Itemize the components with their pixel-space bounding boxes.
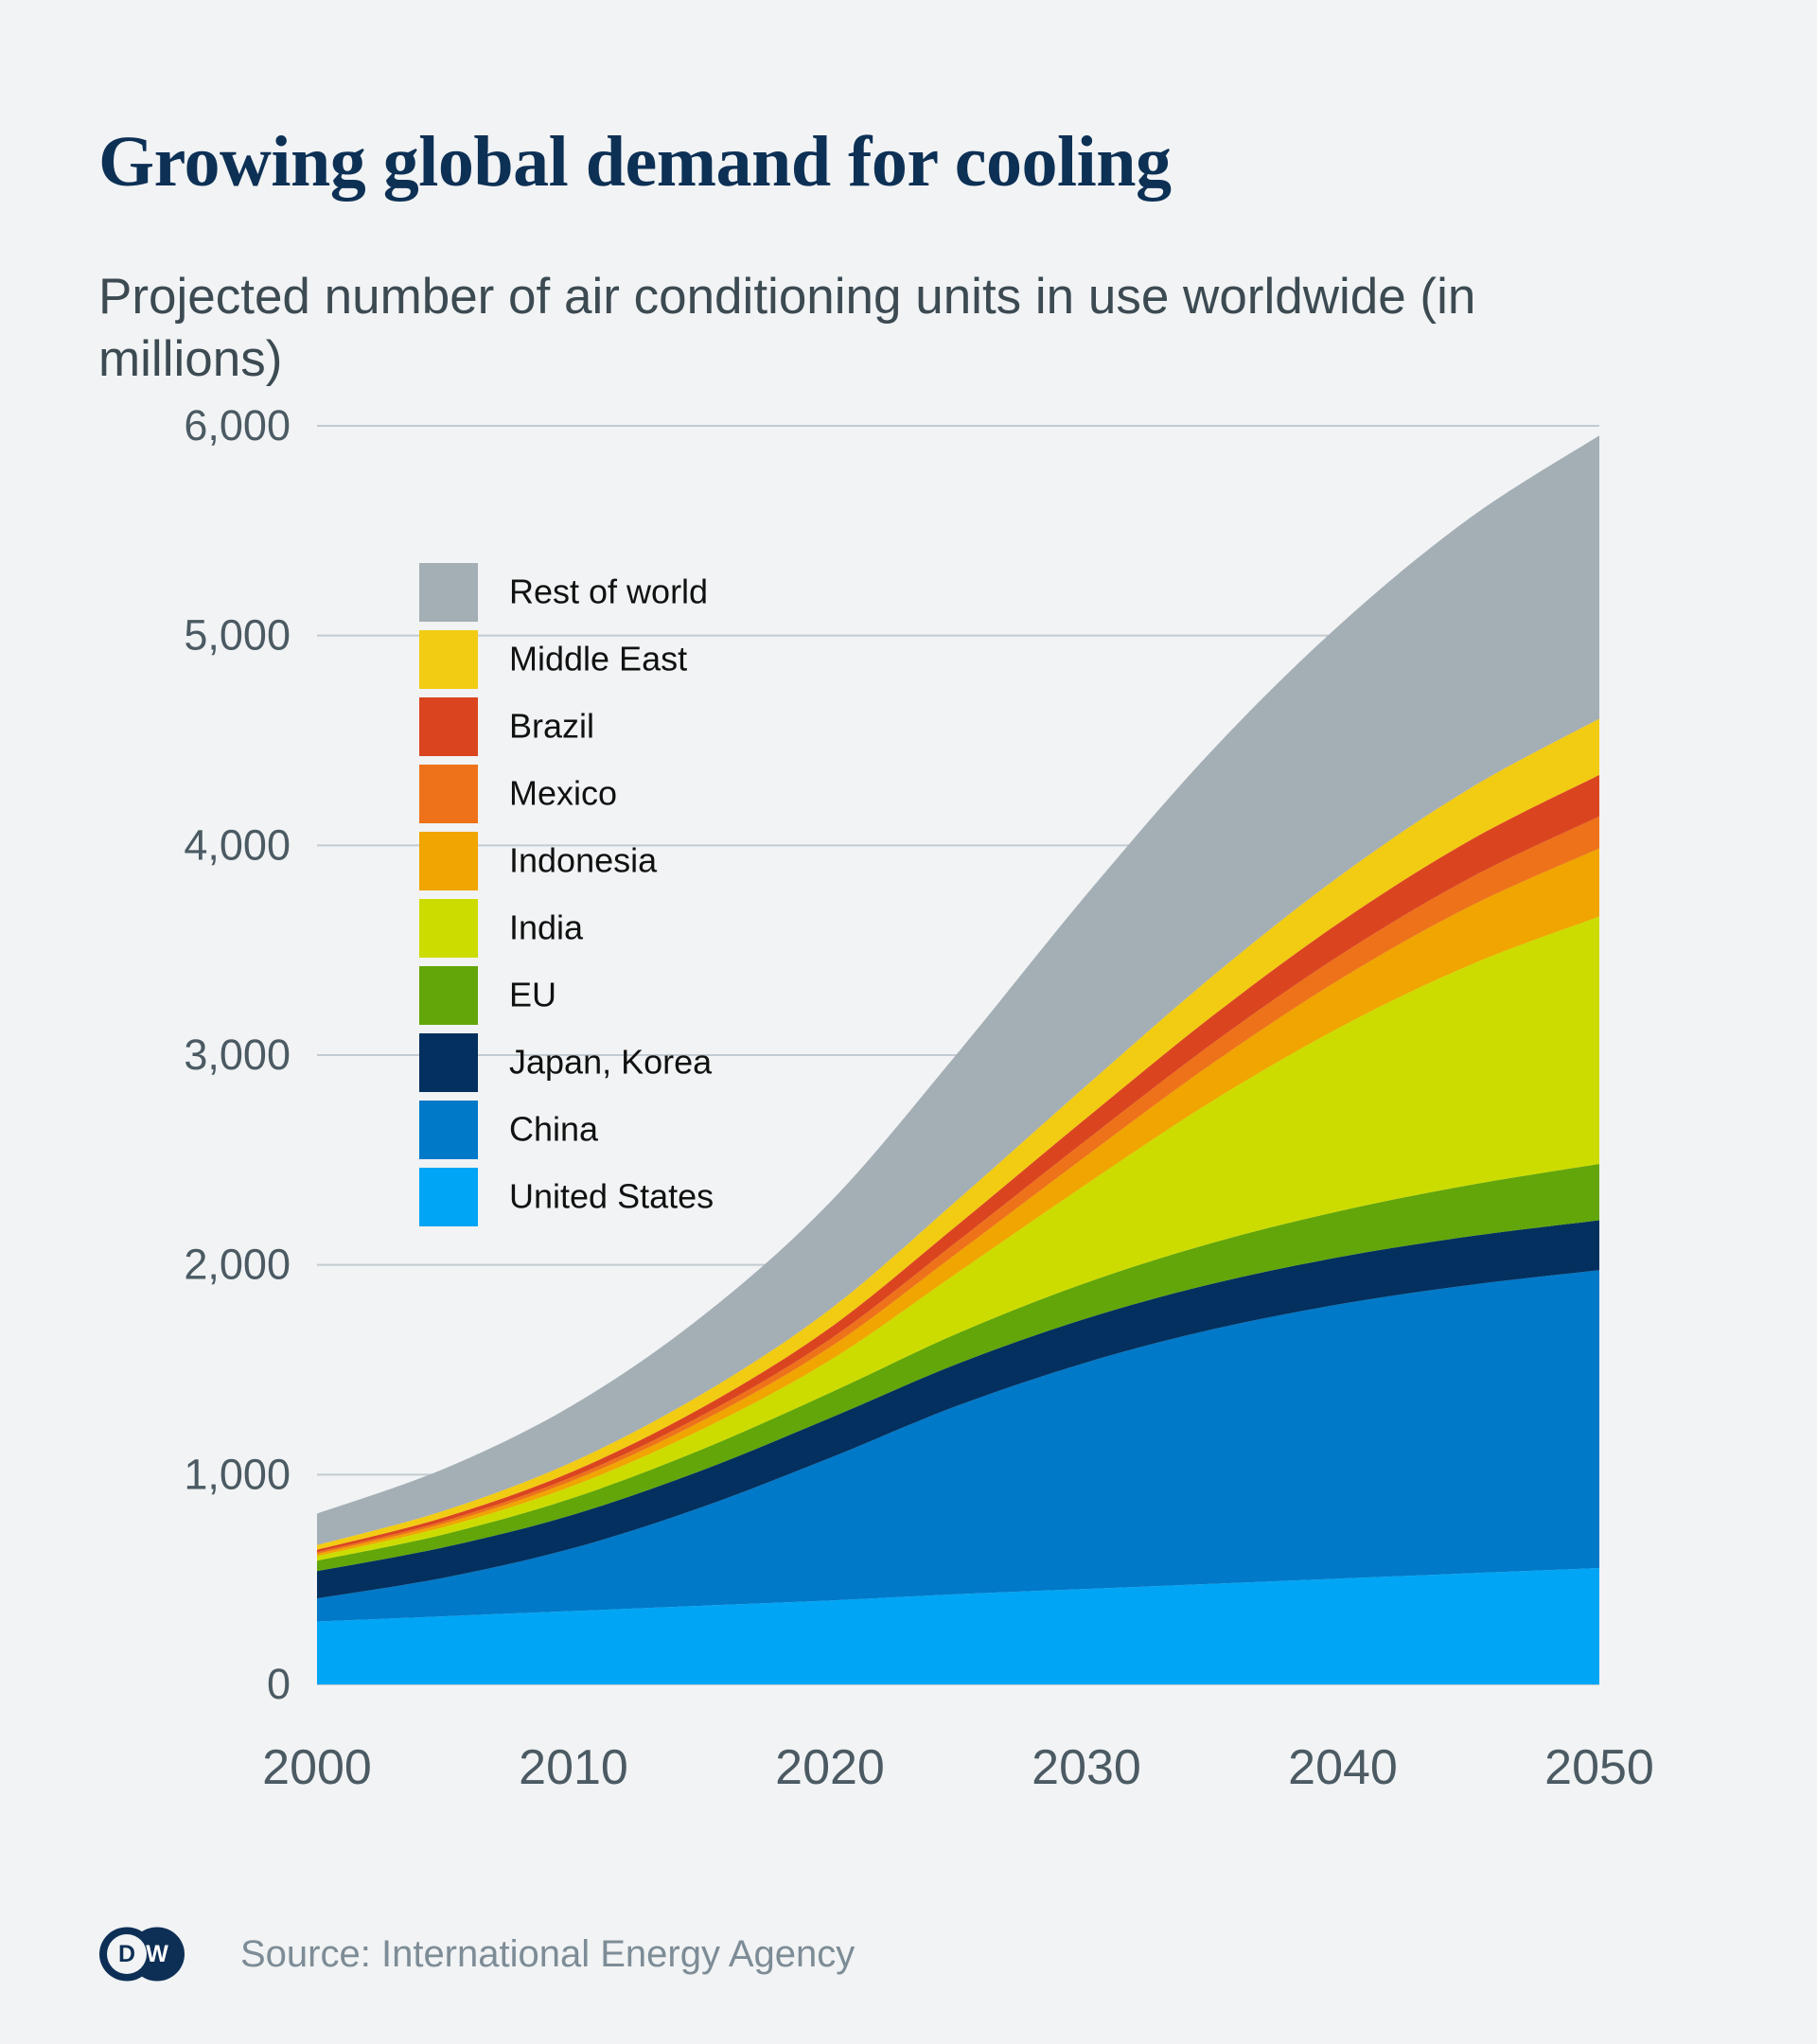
legend-swatch-indonesia[interactable] bbox=[419, 832, 478, 890]
legend-label-china: China bbox=[509, 1110, 599, 1149]
y-axis-tick-label: 2,000 bbox=[184, 1241, 291, 1289]
x-axis-tick-label: 2020 bbox=[775, 1740, 885, 1795]
y-axis-tick-label: 4,000 bbox=[184, 820, 291, 869]
chart-footer: D W Source: International Energy Agency bbox=[98, 1921, 855, 1987]
x-axis-tick-label: 2050 bbox=[1544, 1740, 1654, 1795]
source-label: Source: International Energy Agency bbox=[240, 1933, 855, 1976]
chart-legend: Rest of worldMiddle EastBrazilMexicoIndo… bbox=[419, 563, 714, 1226]
x-axis-group: 200020102020203020402050 bbox=[262, 1740, 1654, 1795]
legend-label-rest-of-world: Rest of world bbox=[509, 573, 708, 611]
x-axis-tick-label: 2040 bbox=[1288, 1740, 1398, 1795]
legend-label-india: India bbox=[509, 908, 584, 947]
legend-label-eu: EU bbox=[509, 976, 556, 1014]
x-axis-tick-label: 2030 bbox=[1032, 1740, 1141, 1795]
dw-logo-letter-d: D bbox=[118, 1941, 135, 1967]
legend-swatch-india[interactable] bbox=[419, 899, 478, 958]
legend-label-indonesia: Indonesia bbox=[509, 841, 658, 880]
legend-swatch-japan-korea[interactable] bbox=[419, 1033, 478, 1092]
y-axis-tick-label: 3,000 bbox=[184, 1031, 291, 1079]
legend-swatch-united-states[interactable] bbox=[419, 1168, 478, 1226]
y-axis-tick-label: 0 bbox=[267, 1660, 291, 1708]
legend-label-japan-korea: Japan, Korea bbox=[509, 1043, 713, 1082]
dw-logo-svg: D W bbox=[98, 1927, 185, 1982]
y-axis-tick-label: 1,000 bbox=[184, 1450, 291, 1498]
chart-canvas: 01,0002,0003,0004,0005,0006,000200020102… bbox=[0, 0, 1817, 2044]
y-axis-tick-label: 6,000 bbox=[184, 401, 291, 449]
dw-logo-letter-w: W bbox=[146, 1941, 168, 1967]
legend-swatch-middle-east[interactable] bbox=[419, 630, 478, 689]
legend-label-brazil: Brazil bbox=[509, 707, 594, 746]
x-axis-tick-label: 2010 bbox=[519, 1740, 628, 1795]
legend-swatch-mexico[interactable] bbox=[419, 765, 478, 823]
dw-logo-icon: D W bbox=[98, 1927, 185, 1982]
legend-label-united-states: United States bbox=[509, 1177, 714, 1216]
x-axis-tick-label: 2000 bbox=[262, 1740, 372, 1795]
infographic-page: Growing global demand for cooling Projec… bbox=[0, 0, 1817, 2044]
y-axis-tick-label: 5,000 bbox=[184, 611, 291, 660]
legend-swatch-brazil[interactable] bbox=[419, 697, 478, 756]
legend-label-mexico: Mexico bbox=[509, 774, 617, 813]
legend-swatch-rest-of-world[interactable] bbox=[419, 563, 478, 622]
legend-label-middle-east: Middle East bbox=[509, 640, 687, 678]
stacked-area-chart: 01,0002,0003,0004,0005,0006,000200020102… bbox=[0, 0, 1817, 2044]
legend-swatch-eu[interactable] bbox=[419, 966, 478, 1025]
legend-swatch-china[interactable] bbox=[419, 1101, 478, 1159]
